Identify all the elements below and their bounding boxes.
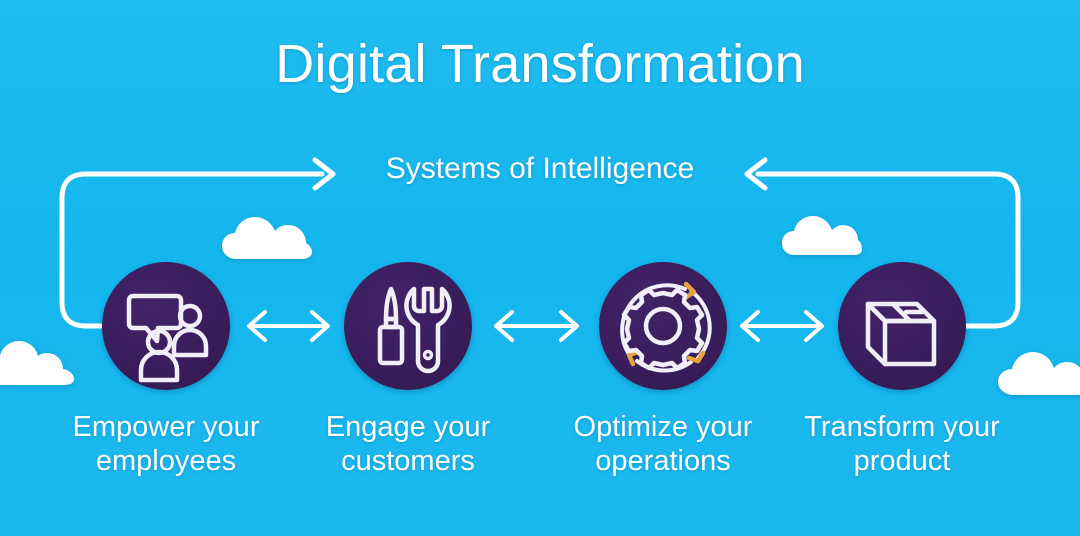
package-box-icon xyxy=(838,262,966,390)
pillar-transform-product[interactable]: Transform your product xyxy=(792,262,1012,478)
pillar-label: Transform your product xyxy=(792,410,1012,478)
pillar-engage-customers[interactable]: Engage your customers xyxy=(298,262,518,478)
pillar-empower-employees[interactable]: Empower your employees xyxy=(56,262,276,478)
pillar-label: Engage your customers xyxy=(298,410,518,478)
slide-canvas: Digital Transformation Systems of Intell… xyxy=(0,0,1080,536)
screwdriver-wrench-icon xyxy=(344,262,472,390)
gear-cycle-icon xyxy=(599,262,727,390)
pillar-disc xyxy=(102,262,230,390)
pillar-disc xyxy=(344,262,472,390)
pillar-disc xyxy=(838,262,966,390)
pillar-disc xyxy=(599,262,727,390)
pillar-label: Empower your employees xyxy=(56,410,276,478)
people-chat-icon xyxy=(102,262,230,390)
pillar-label: Optimize your operations xyxy=(553,410,773,478)
pillar-optimize-operations[interactable]: Optimize your operations xyxy=(553,262,773,478)
